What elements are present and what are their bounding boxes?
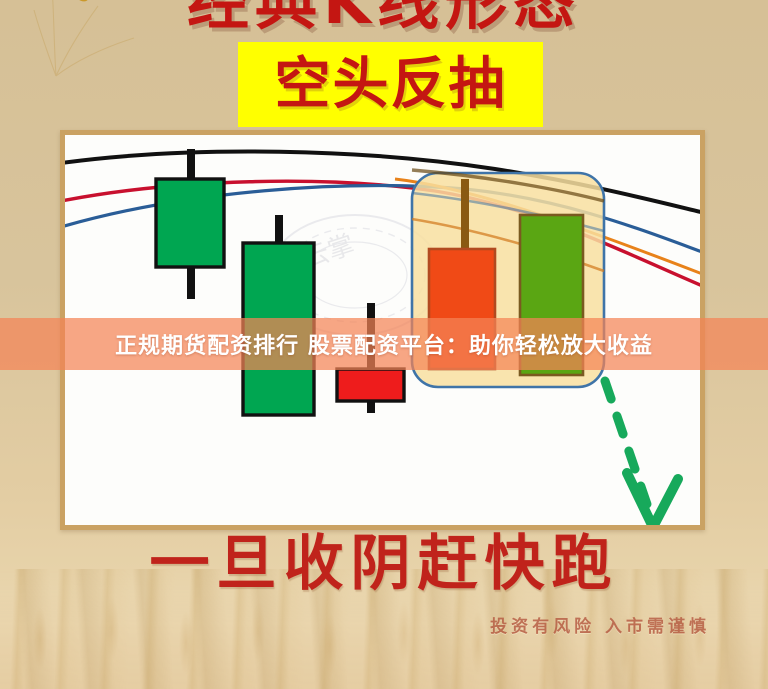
promo-banner-text: 正规期货配资排行 股票配资平台：助你轻松放大收益 xyxy=(115,328,653,360)
promo-banner[interactable]: 正规期货配资排行 股票配资平台：助你轻松放大收益 xyxy=(0,318,768,370)
candle-bull-2 xyxy=(243,215,314,415)
candle-bull-1 xyxy=(156,149,224,299)
poster-root: 经典K线形态 空头反抽 云掌 xyxy=(0,0,768,689)
disclaimer-text: 投资有风险 入市需谨慎 xyxy=(490,612,710,637)
subtitle-text: 空头反抽 xyxy=(275,57,507,113)
page-title: 经典K线形态 xyxy=(0,0,768,38)
subtitle-band: 空头反抽 xyxy=(238,42,543,127)
slogan-text: 一旦收阴赶快跑 xyxy=(0,528,768,600)
down-arrow-icon xyxy=(605,381,678,525)
